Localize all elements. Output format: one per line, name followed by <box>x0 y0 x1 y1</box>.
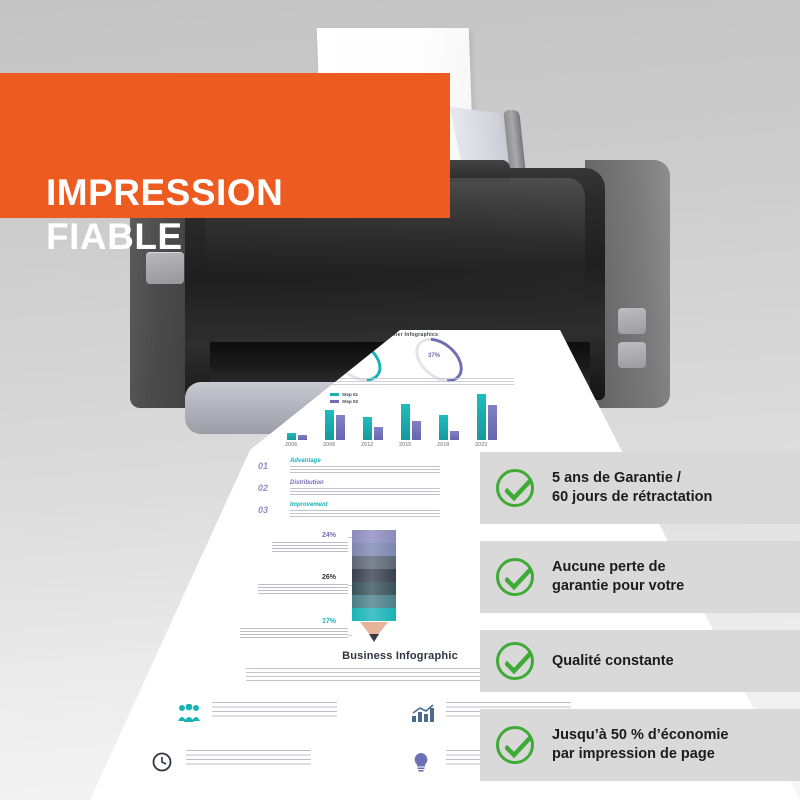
funnel-segment <box>352 569 396 582</box>
feature-card: Aucune perte de garantie pour votre <box>480 541 800 613</box>
feature-list: 5 ans de Garantie / 60 jours de rétracta… <box>480 452 800 798</box>
funnel-percent-value: 24% <box>322 532 336 539</box>
check-circle-icon <box>496 642 534 680</box>
x-axis-tick-label: 2012 <box>361 442 373 448</box>
funnel-leader-line <box>348 635 352 636</box>
step-number: 03 <box>258 505 268 515</box>
step-body-placeholder <box>290 466 440 474</box>
step-item: 03 Improvement <box>258 502 488 524</box>
step-title: Improvement <box>290 502 328 508</box>
funnel-percent-value: 17% <box>322 618 336 625</box>
x-axis-tick-label: 2006 <box>285 442 297 448</box>
funnel-segment <box>352 530 396 543</box>
step-item: 01 Advantage <box>258 458 488 480</box>
step-number: 02 <box>258 483 268 493</box>
bar-step-01 <box>287 433 296 440</box>
icon-item-text-placeholder <box>186 750 311 768</box>
bar-step-01 <box>401 404 410 440</box>
bar-step-02 <box>374 427 383 440</box>
funnel-segment <box>352 595 396 608</box>
donut-value-2: 37% <box>428 353 440 359</box>
funnel-caption-placeholder <box>272 542 348 554</box>
funnel-segment <box>352 556 396 569</box>
bar-step-02 <box>298 435 307 440</box>
bar-step-02 <box>412 421 421 440</box>
feature-label: 5 ans de Garantie / 60 jours de rétracta… <box>552 469 712 507</box>
funnel-leader-line <box>348 537 352 538</box>
clock-icon <box>152 752 172 777</box>
headline-banner: IMPRESSIONFIABLE <box>0 73 450 218</box>
lightbulb-icon <box>412 752 430 777</box>
promo-banner-scene: Banner Infographics 35% 37% Step 01 Step… <box>0 0 800 800</box>
funnel-caption-placeholder <box>258 584 348 596</box>
numbered-steps-list: 01 Advantage 02 Distribution 03 Improvem… <box>258 458 488 524</box>
step-body-placeholder <box>290 488 440 496</box>
icon-item-text-placeholder <box>212 702 337 720</box>
headline-text: IMPRESSIONFIABLE <box>46 171 446 259</box>
bar-step-02 <box>450 431 459 440</box>
feature-card: Qualité constante <box>480 630 800 692</box>
bar-step-01 <box>325 410 334 440</box>
check-circle-icon <box>496 558 534 596</box>
printer-button-right-1 <box>618 308 646 334</box>
step-body-placeholder <box>290 510 440 518</box>
funnel-segment <box>352 543 396 556</box>
check-circle-icon <box>496 469 534 507</box>
people-icon <box>178 704 200 727</box>
funnel-segment <box>352 582 396 595</box>
step-number: 01 <box>258 461 268 471</box>
feature-label: Aucune perte de garantie pour votre <box>552 558 684 596</box>
step-title: Distribution <box>290 480 324 486</box>
x-axis-tick-label: 2018 <box>437 442 449 448</box>
x-axis-tick-label: 2015 <box>399 442 411 448</box>
bar-step-01 <box>439 415 448 440</box>
funnel-leader-line <box>348 585 352 586</box>
headline-line-1: IMPRESSION <box>46 172 283 213</box>
bar-chart-icon <box>412 704 434 727</box>
printer-button-right-2 <box>618 342 646 368</box>
x-axis-tick-label: 2023 <box>475 442 487 448</box>
headline-line-2: FIABLE <box>46 216 183 257</box>
bar-chart <box>285 390 515 440</box>
step-title: Advantage <box>290 458 321 464</box>
bar-step-02 <box>336 415 345 440</box>
funnel-percent-value: 26% <box>322 574 336 581</box>
bar-step-01 <box>477 394 486 440</box>
funnel-segment <box>352 608 396 621</box>
feature-card: 5 ans de Garantie / 60 jours de rétracta… <box>480 452 800 524</box>
pencil-nib <box>369 634 379 642</box>
infographic-paragraph-placeholder <box>318 378 514 387</box>
pencil-funnel-graphic <box>352 530 396 640</box>
bar-step-01 <box>363 417 372 440</box>
bar-step-02 <box>488 405 497 440</box>
feature-label: Qualité constante <box>552 652 674 671</box>
feature-card: Jusqu’à 50 % d’économie par impression d… <box>480 709 800 781</box>
funnel-caption-placeholder <box>240 628 348 640</box>
feature-label: Jusqu’à 50 % d’économie par impression d… <box>552 726 728 764</box>
bar-chart-x-axis: 200620092012201520182023 <box>285 442 515 452</box>
check-circle-icon <box>496 726 534 764</box>
step-item: 02 Distribution <box>258 480 488 502</box>
x-axis-tick-label: 2009 <box>323 442 335 448</box>
infographic-bottom-title: Business Infographic <box>300 650 500 662</box>
